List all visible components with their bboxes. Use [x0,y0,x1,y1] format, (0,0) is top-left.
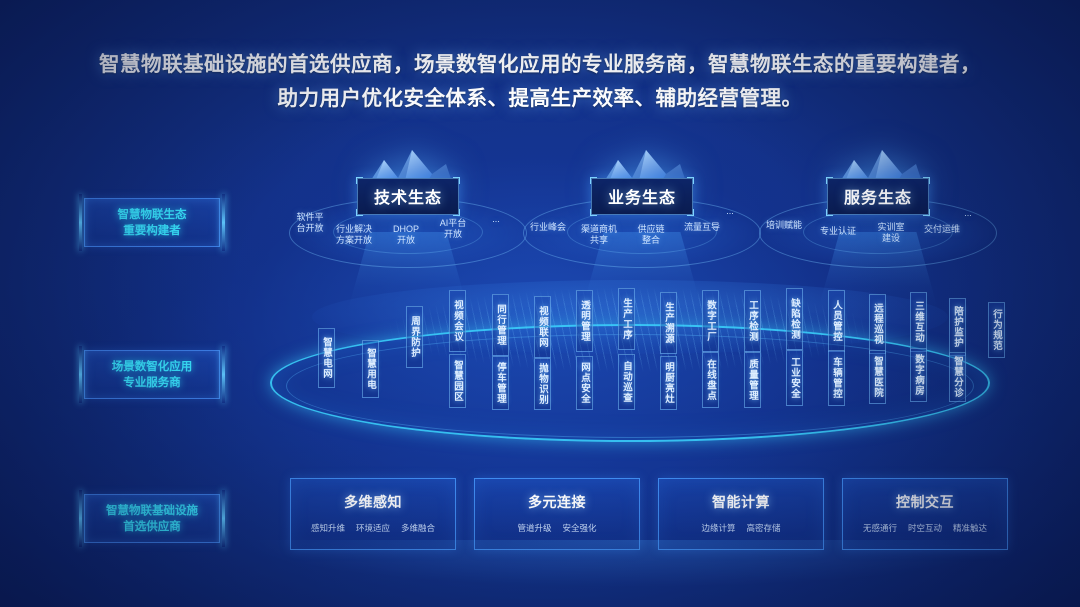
eco-tag: 交付运维 [918,224,966,235]
corner-mark [687,177,694,184]
eco-tag: DHOP 开放 [386,224,426,246]
side-label-infrastructure[interactable]: 智慧物联基础设施 首选供应商 [84,494,220,543]
scenario-chip[interactable]: 车辆管控 [828,350,845,406]
capability-subs: 感知升维 环境适应 多维融合 [291,522,455,534]
eco-tag: 专业认证 [814,226,862,237]
ecosystem-business-tags: 行业峰会 渠道商机 共享 供应链 整合 流量互导 ... [522,210,762,258]
side-label-infrastructure-line1: 智慧物联基础设施 [106,505,198,517]
capability-subs: 管道升级 安全强化 [475,522,639,534]
ecosystem-service[interactable]: 服务生态 培训赋能 专业认证 实训室 建设 交付运维 ... [758,142,998,262]
side-label-ecosystem-line1: 智慧物联生态 [118,209,187,221]
capability-subs: 无感通行 时空互动 精准触达 [843,522,1007,534]
capability-sub: 高密存储 [747,522,781,534]
scenario-chip[interactable]: 在线盘点 [702,352,719,408]
capability-card-computing[interactable]: 智能计算 边缘计算 高密存储 [658,478,824,550]
scenario-chip[interactable]: 生产溯源 [660,292,677,354]
corner-mark [826,177,833,184]
capability-sub: 多维融合 [401,522,435,534]
side-label-ecosystem-text: 智慧物联生态 重要构建者 [118,207,187,239]
scenario-chip[interactable]: 网点安全 [576,356,593,410]
capability-card-connection[interactable]: 多元连接 管道升级 安全强化 [474,478,640,550]
side-label-ecosystem-line2: 重要构建者 [123,225,181,237]
eco-tag: AI平台 开放 [431,218,475,240]
capability-card-perception[interactable]: 多维感知 感知升维 环境适应 多维融合 [290,478,456,550]
ecosystem-technology-tags: 软件平 台开放 行业解决 方案开放 DHOP 开放 AI平台 开放 ... [288,210,528,258]
scenario-chip[interactable]: 停车管理 [492,356,509,410]
ecosystem-service-tags: 培训赋能 专业认证 实训室 建设 交付运维 ... [758,210,998,258]
scenario-chip[interactable]: 生产工序 [618,288,635,350]
eco-tag: 供应链 整合 [630,224,672,246]
scenario-chip[interactable]: 明厨亮灶 [660,356,677,410]
eco-tag: 流量互导 [678,222,726,233]
headline-line-2: 助力用户优化安全体系、提高生产效率、辅助经营管理。 [0,82,1080,116]
ecosystem-business[interactable]: 业务生态 行业峰会 渠道商机 共享 供应链 整合 流量互导 ... [522,142,762,262]
scenario-chip[interactable]: 透明管理 [576,290,593,352]
scenario-chip[interactable]: 智慧用电 [362,340,379,398]
scenario-chip[interactable]: 数字病房 [910,348,927,402]
ecosystem-title-text: 业务生态 [608,190,676,207]
eco-tag: 行业峰会 [524,222,572,233]
eco-tag: ... [956,208,980,219]
side-label-infrastructure-line2: 首选供应商 [123,521,181,533]
scenario-chip[interactable]: 自动巡查 [618,354,635,410]
ecosystem-technology[interactable]: 技术生态 软件平 台开放 行业解决 方案开放 DHOP 开放 AI平台 开放 .… [288,142,528,262]
capability-sub: 环境适应 [356,522,390,534]
scenario-chip[interactable]: 视频会议 [449,290,466,352]
capability-sub: 感知升维 [311,522,345,534]
scenario-chip[interactable]: 智慧电网 [318,328,335,388]
corner-mark [590,177,597,184]
scenario-chip[interactable]: 智慧分诊 [949,352,966,402]
side-label-ecosystem[interactable]: 智慧物联生态 重要构建者 [84,198,220,247]
headline-line-1: 智慧物联基础设施的首选供应商，场景数智化应用的专业服务商，智慧物联生态的重要构建… [99,53,981,76]
scenario-chip[interactable]: 行为规范 [988,302,1005,358]
side-label-application-text: 场景数智化应用 专业服务商 [112,359,193,391]
side-label-application-line1: 场景数智化应用 [112,361,193,373]
scenario-chip[interactable]: 远程巡视 [869,294,886,354]
capability-sub: 管道升级 [517,522,551,534]
scenario-chip[interactable]: 工序检测 [744,290,761,352]
scenario-chip[interactable]: 抛物识别 [534,358,551,410]
scenario-chip[interactable]: 三维互动 [910,292,927,352]
capability-sub: 安全强化 [563,522,597,534]
side-label-infrastructure-text: 智慧物联基础设施 首选供应商 [106,503,198,535]
eco-tag: 培训赋能 [760,220,808,231]
ecosystem-title-text: 技术生态 [374,190,442,207]
scenario-chip[interactable]: 同行管理 [492,294,509,356]
capability-card-control[interactable]: 控制交互 无感通行 时空互动 精准触达 [842,478,1008,550]
scenario-chip[interactable]: 周界防护 [406,306,423,368]
corner-mark [453,177,460,184]
eco-tag: 渠道商机 共享 [574,224,624,246]
scenario-chip[interactable]: 视频联网 [534,296,551,358]
scenario-chip[interactable]: 智慧园区 [449,354,466,408]
eco-tag: 实训室 建设 [870,222,912,244]
scenario-chip[interactable]: 人员管控 [828,290,845,352]
scenario-chip[interactable]: 缺陷检测 [786,288,803,350]
scenario-chip[interactable]: 陪护监护 [949,298,966,356]
capability-title: 控制交互 [843,492,1007,512]
eco-tag: ... [718,206,742,217]
scenario-chip[interactable]: 智慧医院 [869,350,886,404]
corner-mark [356,177,363,184]
capability-title: 多元连接 [475,492,639,512]
corner-mark [923,177,930,184]
scenario-chip[interactable]: 数字工厂 [702,290,719,352]
side-label-application-line2: 专业服务商 [123,377,181,389]
capability-subs: 边缘计算 高密存储 [659,522,823,534]
scenario-chip[interactable]: 质量管理 [744,352,761,408]
eco-tag: 行业解决 方案开放 [328,224,380,246]
capability-sub: 时空互动 [908,522,942,534]
scenario-chip[interactable]: 工业安全 [786,350,803,406]
eco-tag: 软件平 台开放 [288,212,332,234]
page-title: 智慧物联基础设施的首选供应商，场景数智化应用的专业服务商，智慧物联生态的重要构建… [0,48,1080,116]
capability-title: 多维感知 [291,492,455,512]
capability-sub: 边缘计算 [701,522,735,534]
capability-sub: 精准触达 [953,522,987,534]
eco-tag: ... [484,214,508,225]
side-label-application[interactable]: 场景数智化应用 专业服务商 [84,350,220,399]
capability-title: 智能计算 [659,492,823,512]
capability-sub: 无感通行 [863,522,897,534]
ecosystem-title-text: 服务生态 [844,190,912,207]
